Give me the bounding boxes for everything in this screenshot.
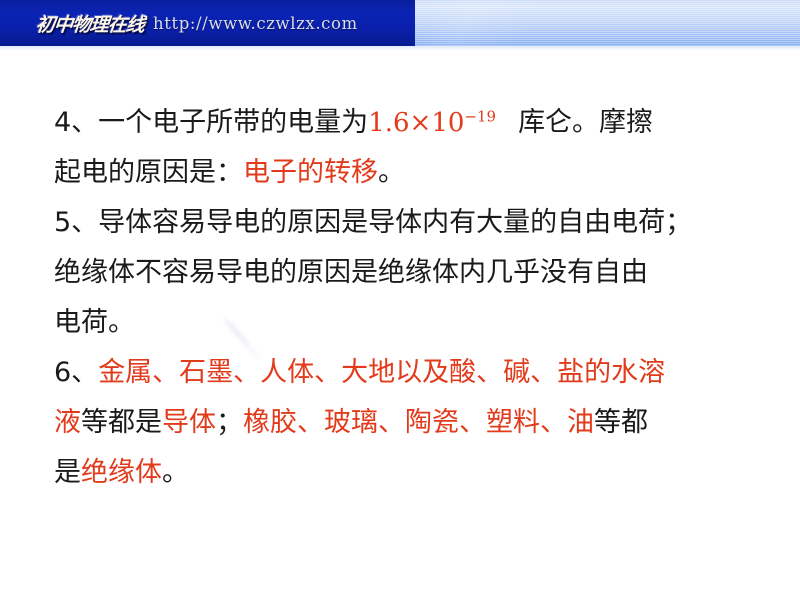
line-4a-sci-base: 1.6×10 xyxy=(368,108,464,138)
line-4b-suffix: 。 xyxy=(378,157,405,188)
line-6a-conductors-answer: 金属、石墨、人体、大地以及酸、碱、盐的水溶 xyxy=(98,357,665,388)
text-line-4a: 4、一个电子所带的电量为1.6×10−19库仑。摩擦 xyxy=(54,98,782,148)
text-line-6c: 是绝缘体。 xyxy=(54,448,782,498)
line-6b-text-3: 等都 xyxy=(594,407,648,438)
line-4b-prefix: 起电的原因是： xyxy=(54,157,243,188)
slide-body-text: 4、一个电子所带的电量为1.6×10−19库仑。摩擦 起电的原因是：电子的转移。… xyxy=(54,98,782,498)
text-line-5b: 绝缘体不容易导电的原因是绝缘体内几乎没有自由 xyxy=(54,248,782,298)
line-4a-suffix: 库仑。摩擦 xyxy=(518,107,653,138)
line-6c-insulators-answer: 绝缘体 xyxy=(81,457,162,488)
text-line-4b: 起电的原因是：电子的转移。 xyxy=(54,148,782,198)
line-5b-text: 绝缘体不容易导电的原因是绝缘体内几乎没有自由 xyxy=(54,257,648,288)
line-5c-text: 电荷。 xyxy=(54,307,135,338)
text-line-5a: 5、导体容易导电的原因是导体内有大量的自由电荷； xyxy=(54,198,782,248)
line-4a-charge-value: 1.6×10−19 xyxy=(368,108,496,138)
line-6b-answer-1: 液 xyxy=(54,407,81,438)
text-line-5c: 电荷。 xyxy=(54,298,782,348)
banner-content: 初中物理在线 http://www.czwlzx.com xyxy=(36,0,358,46)
text-line-6b: 液等都是导体；橡胶、玻璃、陶瓷、塑料、油等都 xyxy=(54,398,782,448)
site-logo-text: 初中物理在线 xyxy=(35,10,146,37)
banner-underline xyxy=(0,46,800,50)
line-6a-number: 6、 xyxy=(54,357,98,388)
slide-canvas: 初中物理在线 http://www.czwlzx.com 4、一个电子所带的电量… xyxy=(0,0,800,600)
line-6b-answer-3: 橡胶、玻璃、陶瓷、塑料、油 xyxy=(243,407,594,438)
text-line-6a: 6、金属、石墨、人体、大地以及酸、碱、盐的水溶 xyxy=(54,348,782,398)
line-4a-prefix: 4、一个电子所带的电量为 xyxy=(54,107,368,138)
site-header-banner: 初中物理在线 http://www.czwlzx.com xyxy=(0,0,800,50)
line-6c-text-1: 是 xyxy=(54,457,81,488)
line-4a-sci-exponent: −19 xyxy=(464,107,496,125)
line-6b-text-2: ； xyxy=(216,407,243,438)
line-4b-answer: 电子的转移 xyxy=(243,157,378,188)
line-6c-text-2: 。 xyxy=(162,457,189,488)
site-url-text: http://www.czwlzx.com xyxy=(153,14,358,33)
line-6b-answer-2: 导体 xyxy=(162,407,216,438)
line-5a-text: 5、导体容易导电的原因是导体内有大量的自由电荷； xyxy=(54,207,692,238)
line-6b-text-1: 等都是 xyxy=(81,407,162,438)
